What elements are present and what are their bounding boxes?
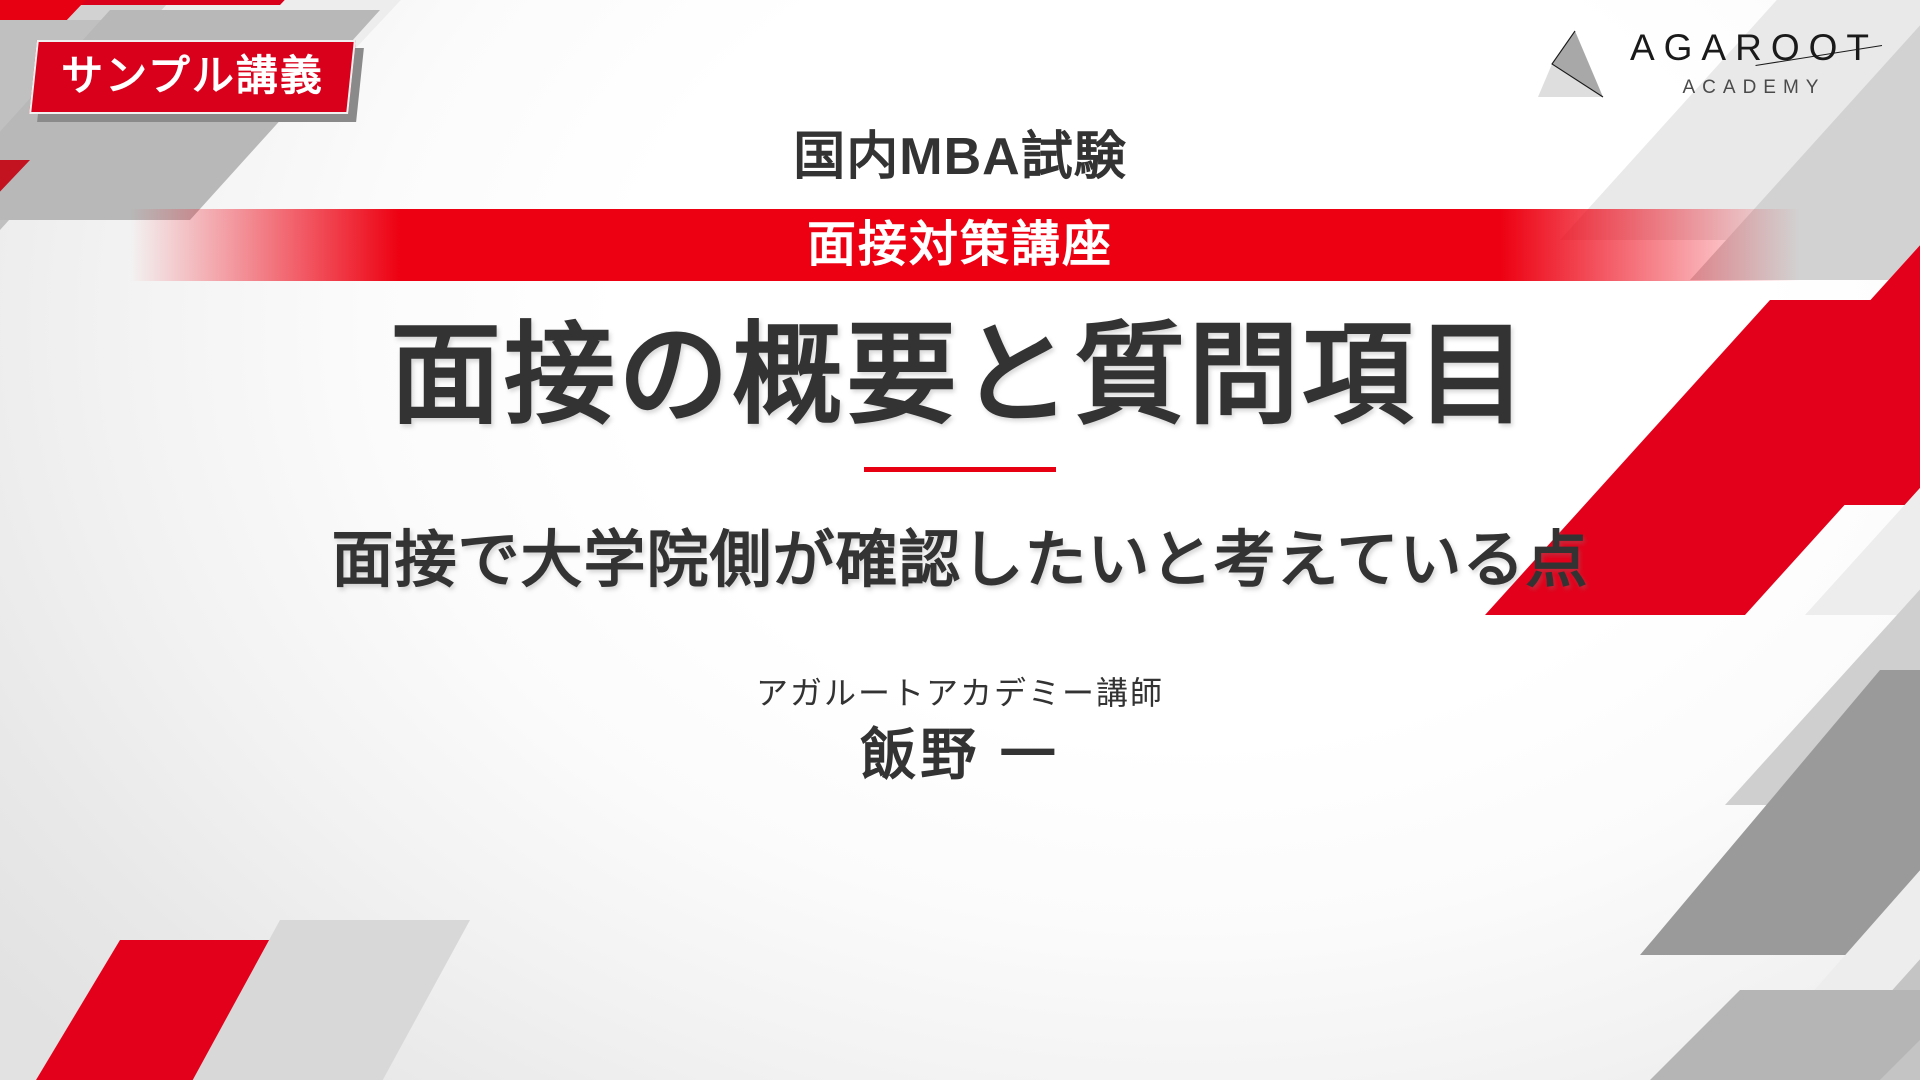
- logo-sub-text: ACADEMY: [1683, 77, 1826, 99]
- course-kicker: 国内MBA試験: [793, 131, 1126, 183]
- slide-canvas: サンプル講義 AGAROOT ACADEMY 国内MBA試験 面接対策講座 面接…: [0, 0, 1920, 1080]
- logo-brand-text: AGAROOT: [1630, 27, 1878, 68]
- course-name-label: 面接対策講座: [807, 221, 1113, 270]
- logo-wordmark: AGAROOT ACADEMY: [1630, 29, 1878, 99]
- agaroot-academy-logo: AGAROOT ACADEMY: [1534, 28, 1878, 100]
- sample-lecture-badge: サンプル講義: [33, 40, 352, 114]
- badge-label: サンプル講義: [61, 55, 324, 97]
- page-subtitle: 面接で大学院側が確認したいと考えている点: [332, 524, 1589, 598]
- slide-content: 国内MBA試験 面接対策講座 面接の概要と質問項目 面接で大学院側が確認したいと…: [0, 0, 1920, 1080]
- title-divider: [864, 467, 1056, 472]
- agaroot-triangle-mark: [1534, 28, 1616, 100]
- badge-plate: サンプル講義: [29, 40, 356, 114]
- page-title: 面接の概要と質問項目: [390, 313, 1530, 437]
- logo-brand-wrap: AGAROOT: [1630, 29, 1878, 66]
- presenter-block: アガルートアカデミー講師 飯野 一: [756, 677, 1164, 783]
- course-name-banner: 面接対策講座: [0, 209, 1920, 281]
- presenter-name: 飯野 一: [756, 727, 1164, 783]
- presenter-role: アガルートアカデミー講師: [756, 677, 1164, 709]
